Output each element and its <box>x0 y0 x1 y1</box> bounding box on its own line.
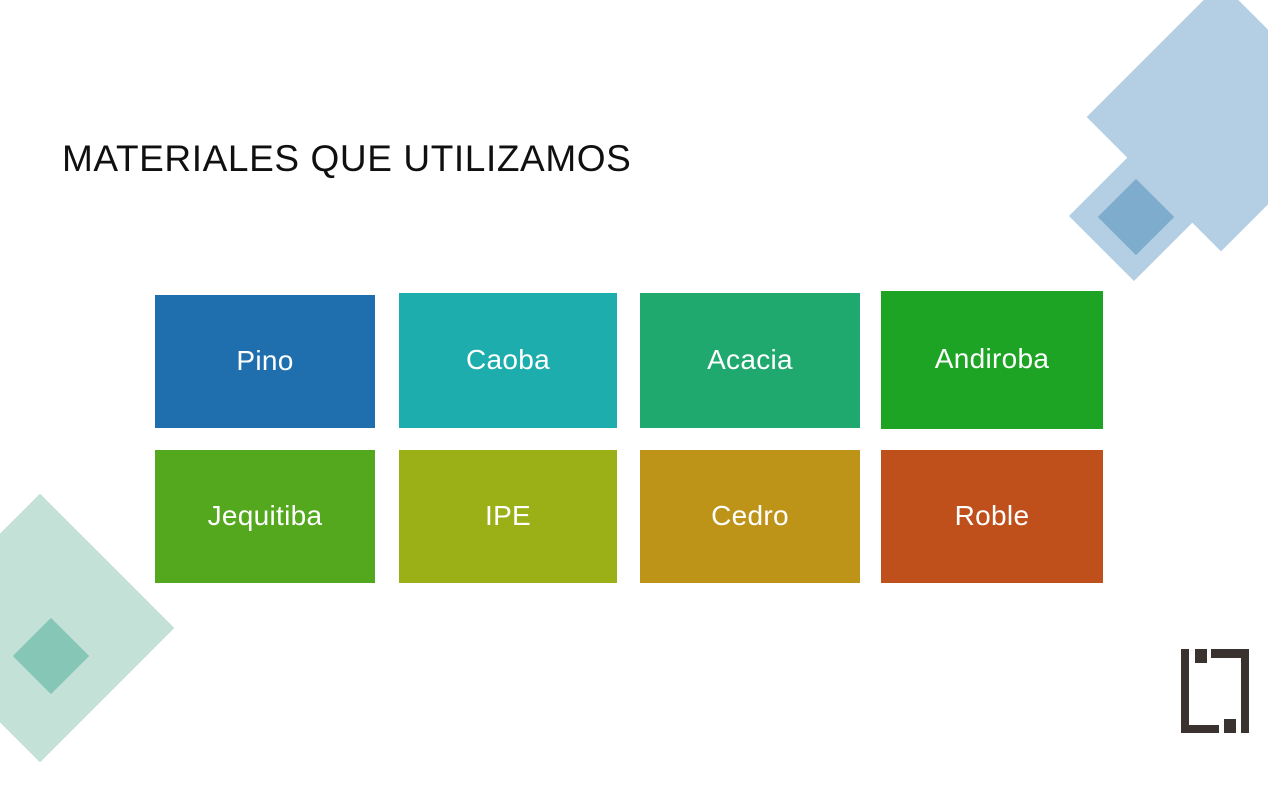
slide-title: MATERIALES QUE UTILIZAMOS <box>62 138 631 180</box>
teal-diamond-medium <box>3 592 133 722</box>
material-tile-andiroba[interactable]: Andiroba <box>881 291 1103 429</box>
material-tile-label: Acacia <box>707 346 793 374</box>
material-tile-label: Roble <box>955 502 1030 530</box>
teal-diamond-overlap <box>13 618 89 694</box>
slide: MATERIALES QUE UTILIZAMOS PinoCaobaAcaci… <box>0 0 1268 801</box>
material-tile-roble[interactable]: Roble <box>881 450 1103 583</box>
material-tile-pino[interactable]: Pino <box>155 295 375 428</box>
teal-diamond-large <box>0 494 174 763</box>
blue-diamond-medium <box>1069 151 1199 281</box>
material-tile-label: Caoba <box>466 346 550 374</box>
blue-diamond-overlap <box>1098 179 1174 255</box>
decoration-top-right <box>1008 0 1268 300</box>
material-tile-label: Andiroba <box>935 345 1049 373</box>
material-tile-label: Pino <box>236 347 293 375</box>
material-tile-acacia[interactable]: Acacia <box>640 293 860 428</box>
materials-grid: PinoCaobaAcaciaAndirobaJequitibaIPECedro… <box>155 291 1105 583</box>
material-tile-label: Jequitiba <box>208 502 323 530</box>
material-tile-label: IPE <box>485 502 531 530</box>
bracket-logo-glyph <box>1181 649 1249 733</box>
material-tile-cedro[interactable]: Cedro <box>640 450 860 583</box>
material-tile-jequitiba[interactable]: Jequitiba <box>155 450 375 583</box>
material-tile-label: Cedro <box>711 502 789 530</box>
material-tile-ipe[interactable]: IPE <box>399 450 617 583</box>
material-tile-caoba[interactable]: Caoba <box>399 293 617 428</box>
bracket-logo <box>1181 649 1249 733</box>
blue-diamond-large <box>1087 0 1268 251</box>
